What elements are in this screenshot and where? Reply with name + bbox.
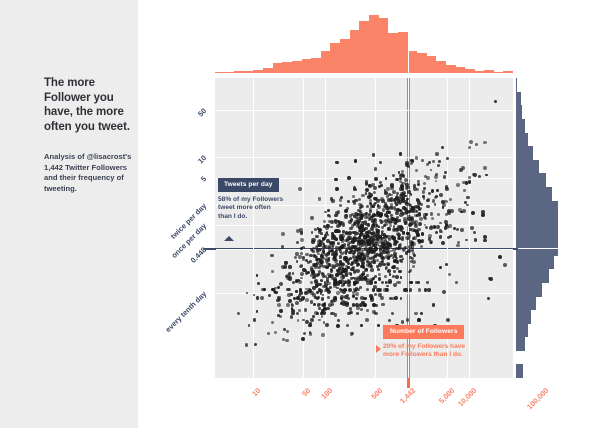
scatter-point bbox=[335, 187, 339, 191]
scatter-point bbox=[374, 281, 377, 284]
scatter-point bbox=[360, 308, 363, 311]
scatter-point bbox=[439, 222, 442, 225]
scatter-point bbox=[377, 268, 380, 271]
histogram-bar bbox=[516, 228, 558, 242]
scatter-point bbox=[310, 216, 314, 220]
histogram-bar bbox=[225, 72, 235, 73]
scatter-point bbox=[392, 190, 396, 194]
scatter-point bbox=[455, 281, 458, 284]
scatter-point bbox=[355, 281, 359, 285]
scatter-point bbox=[338, 225, 341, 228]
scatter-point bbox=[373, 191, 376, 194]
scatter-point bbox=[390, 214, 393, 217]
scatter-point bbox=[423, 182, 426, 185]
scatter-point bbox=[435, 231, 438, 234]
scatter-point bbox=[411, 249, 414, 252]
scatter-point bbox=[366, 309, 370, 313]
scatter-point bbox=[277, 303, 281, 307]
scatter-point bbox=[391, 266, 395, 270]
scatter-point bbox=[310, 281, 313, 284]
scatter-point bbox=[302, 258, 305, 261]
scatter-point bbox=[295, 301, 299, 305]
scatter-point bbox=[334, 214, 338, 218]
scatter-point bbox=[288, 265, 291, 268]
scatter-point bbox=[328, 275, 331, 278]
scatter-point bbox=[353, 236, 356, 239]
scatter-point bbox=[364, 268, 367, 271]
scatter-point bbox=[248, 324, 251, 327]
scatter-point bbox=[292, 281, 295, 284]
scatter-point bbox=[305, 253, 308, 256]
scatter-point bbox=[405, 236, 409, 240]
scatter-point bbox=[318, 307, 321, 310]
scatter-point bbox=[444, 226, 447, 229]
scatter-point bbox=[456, 183, 460, 187]
scatter-point bbox=[279, 282, 283, 286]
histogram-bar bbox=[516, 364, 523, 378]
scatter-point bbox=[310, 318, 314, 322]
scatter-point bbox=[355, 216, 358, 219]
scatter-point bbox=[256, 274, 259, 277]
histogram-bar bbox=[516, 105, 522, 119]
scatter-point bbox=[409, 269, 412, 272]
scatter-point bbox=[359, 275, 363, 279]
scatter-point bbox=[483, 239, 487, 243]
scatter-point bbox=[369, 280, 373, 284]
scatter-point bbox=[327, 296, 330, 299]
scatter-point bbox=[313, 275, 316, 278]
scatter-point bbox=[339, 260, 342, 263]
scatter-point bbox=[468, 176, 472, 180]
scatter-point bbox=[417, 281, 421, 285]
scatter-point bbox=[481, 213, 485, 217]
scatter-point bbox=[344, 270, 347, 273]
gridline-vertical bbox=[253, 78, 254, 378]
scatter-point bbox=[311, 231, 314, 234]
scatter-point bbox=[418, 208, 421, 211]
scatter-point bbox=[327, 209, 330, 212]
scatter-point bbox=[405, 161, 408, 164]
scatter-point bbox=[370, 268, 374, 272]
scatter-point bbox=[301, 296, 305, 300]
scatter-point bbox=[298, 187, 302, 191]
scatter-point bbox=[352, 303, 356, 307]
scatter-point bbox=[365, 231, 368, 234]
scatter-point bbox=[347, 176, 351, 180]
scatter-point bbox=[474, 238, 478, 242]
histogram-bar bbox=[503, 71, 513, 73]
scatter-point bbox=[436, 225, 440, 229]
scatter-point bbox=[393, 252, 397, 256]
scatter-point bbox=[296, 312, 299, 315]
scatter-point bbox=[374, 312, 378, 316]
scatter-point bbox=[442, 290, 446, 294]
scatter-point bbox=[435, 180, 438, 183]
scatter-point bbox=[348, 231, 352, 235]
histogram-bar bbox=[234, 71, 244, 73]
scatter-point bbox=[435, 173, 438, 176]
scatter-point bbox=[379, 288, 383, 292]
scatter-point bbox=[309, 332, 313, 336]
scatter-point bbox=[424, 288, 428, 292]
scatter-point bbox=[324, 245, 328, 249]
histogram-bar bbox=[516, 283, 542, 297]
scatter-point bbox=[441, 241, 445, 245]
scatter-point bbox=[373, 186, 377, 190]
reference-line-tweets-extension-right bbox=[513, 248, 518, 250]
scatter-point bbox=[473, 231, 476, 234]
scatter-point bbox=[381, 303, 385, 307]
histogram-bar bbox=[436, 61, 446, 73]
histogram-bar bbox=[253, 70, 263, 73]
histogram-bar bbox=[516, 187, 552, 201]
histogram-bar bbox=[516, 201, 558, 215]
histogram-bar bbox=[350, 30, 360, 73]
scatter-point bbox=[417, 213, 421, 217]
scatter-point bbox=[395, 257, 398, 260]
scatter-point bbox=[382, 245, 386, 249]
histogram-bar bbox=[484, 70, 494, 73]
scatter-point bbox=[374, 275, 377, 278]
scatter-point bbox=[305, 298, 309, 302]
scatter-point bbox=[318, 319, 321, 322]
scatter-point bbox=[405, 202, 409, 206]
histogram-bar bbox=[516, 296, 536, 310]
scatter-point bbox=[386, 285, 389, 288]
scatter-point bbox=[334, 220, 338, 224]
scatter-point bbox=[470, 226, 474, 230]
scatter-point bbox=[321, 304, 324, 307]
scatter-point bbox=[447, 236, 450, 239]
histogram-bar bbox=[359, 21, 369, 73]
scatter-point bbox=[487, 297, 491, 301]
scatter-point bbox=[304, 269, 307, 272]
scatter-point bbox=[369, 195, 372, 198]
histogram-bar bbox=[369, 15, 379, 73]
scatter-point bbox=[321, 333, 324, 336]
scatter-point bbox=[312, 263, 315, 266]
x-axis-tick-label: 10 bbox=[214, 386, 263, 435]
annotation-tweets-body: 58% of my Followers tweet more often tha… bbox=[218, 196, 284, 222]
scatter-point bbox=[375, 228, 378, 231]
histogram-bar bbox=[516, 255, 554, 269]
scatter-point bbox=[355, 297, 359, 301]
scatter-point bbox=[387, 235, 391, 239]
scatter-point bbox=[308, 288, 312, 292]
scatter-point bbox=[421, 159, 424, 162]
scatter-point bbox=[346, 324, 350, 328]
scatter-point bbox=[291, 304, 294, 307]
scatter-point bbox=[321, 315, 324, 318]
scatter-point bbox=[288, 288, 291, 291]
scatter-point bbox=[368, 243, 371, 246]
scatter-point bbox=[328, 257, 331, 260]
scatter-point bbox=[348, 288, 352, 292]
scatter-point bbox=[341, 245, 344, 248]
scatter-point bbox=[387, 219, 390, 222]
scatter-point bbox=[381, 281, 384, 284]
scatter-point bbox=[294, 256, 297, 259]
scatter-point bbox=[483, 166, 487, 170]
scatter-point bbox=[386, 187, 390, 191]
scatter-point bbox=[425, 226, 428, 229]
scatter-point bbox=[435, 195, 438, 198]
scatter-point bbox=[304, 291, 308, 295]
scatter-point bbox=[377, 225, 380, 228]
figure-area: Tweets per day 58% of my Followers tweet… bbox=[138, 0, 600, 428]
scatter-point bbox=[271, 270, 274, 273]
scatter-point bbox=[439, 235, 443, 239]
histogram-bar bbox=[263, 68, 273, 73]
scatter-point bbox=[456, 228, 459, 231]
scatter-point bbox=[422, 190, 426, 194]
annotation-followers-body: 20% of my Followers have more Followers … bbox=[383, 343, 478, 361]
scatter-point bbox=[465, 239, 468, 242]
histogram-marker-tweets bbox=[516, 248, 560, 250]
scatter-point bbox=[468, 146, 471, 149]
scatter-point bbox=[436, 189, 439, 192]
scatter-point bbox=[379, 252, 383, 256]
scatter-point bbox=[463, 189, 466, 192]
scatter-point bbox=[372, 153, 376, 157]
scatter-point bbox=[462, 209, 466, 213]
scatter-point bbox=[410, 281, 413, 284]
scatter-point bbox=[358, 198, 361, 201]
scatter-point bbox=[351, 224, 355, 228]
scatter-point bbox=[353, 186, 357, 190]
scatter-point bbox=[377, 204, 380, 207]
scatter-point bbox=[359, 303, 363, 307]
scatter-point bbox=[419, 217, 423, 221]
histogram-bar bbox=[516, 269, 549, 283]
scatter-point bbox=[365, 318, 369, 322]
scatter-point bbox=[420, 312, 423, 315]
scatter-point bbox=[345, 303, 349, 307]
scatter-point bbox=[354, 159, 357, 162]
scatter-point bbox=[376, 236, 380, 240]
histogram-bar bbox=[311, 58, 321, 73]
annotation-followers-pointer-icon bbox=[376, 345, 381, 353]
scatter-point bbox=[396, 178, 399, 181]
scatter-point bbox=[410, 242, 414, 246]
histogram-bar bbox=[516, 323, 528, 337]
scatter-point bbox=[380, 184, 383, 187]
scatter-point bbox=[349, 307, 353, 311]
scatter-point bbox=[340, 275, 343, 278]
scatter-point bbox=[347, 200, 350, 203]
scatter-point bbox=[432, 199, 436, 203]
scatter-point bbox=[369, 216, 373, 220]
scatter-point bbox=[418, 288, 421, 291]
scatter-point bbox=[334, 178, 338, 182]
scatter-point bbox=[333, 257, 336, 260]
scatter-point bbox=[296, 241, 299, 244]
page-title: The more Follower you have, the more oft… bbox=[44, 76, 132, 134]
scatter-point bbox=[498, 255, 502, 259]
annotation-number-of-followers: Number of Followers 20% of my Followers … bbox=[383, 320, 478, 360]
histogram-bar bbox=[516, 133, 528, 147]
scatter-point bbox=[449, 198, 452, 201]
scatter-point bbox=[271, 321, 274, 324]
scatter-point bbox=[327, 214, 330, 217]
scatter-point bbox=[316, 312, 319, 315]
scatter-point bbox=[388, 211, 391, 214]
scatter-point bbox=[290, 315, 294, 319]
scatter-point bbox=[350, 332, 354, 336]
scatter-point bbox=[322, 275, 326, 279]
annotation-followers-title: Number of Followers bbox=[383, 325, 464, 339]
scatter-point bbox=[309, 260, 312, 263]
scatter-point bbox=[379, 212, 382, 215]
scatter-point bbox=[503, 263, 507, 267]
scatter-point bbox=[317, 266, 321, 270]
histogram-bar bbox=[475, 71, 485, 73]
scatter-point bbox=[365, 188, 369, 192]
scatter-point bbox=[412, 265, 415, 268]
scatter-point bbox=[432, 303, 435, 306]
scatter-point bbox=[412, 237, 415, 240]
scatter-point bbox=[374, 177, 378, 181]
histogram-bar bbox=[417, 53, 427, 73]
scatter-point bbox=[391, 297, 395, 301]
scatter-point bbox=[483, 235, 487, 239]
scatter-point bbox=[313, 303, 316, 306]
scatter-point bbox=[398, 219, 401, 222]
scatter-point bbox=[386, 195, 389, 198]
histogram-bar bbox=[398, 32, 408, 73]
gridline-horizontal bbox=[215, 110, 513, 111]
scatter-point bbox=[372, 303, 376, 307]
scatter-point bbox=[465, 181, 468, 184]
scatter-point bbox=[378, 273, 381, 276]
scatter-point bbox=[330, 226, 333, 229]
scatter-point bbox=[350, 273, 353, 276]
histogram-bar bbox=[516, 173, 546, 187]
histogram-bar bbox=[321, 51, 331, 73]
scatter-point bbox=[300, 231, 304, 235]
scatter-point bbox=[281, 245, 285, 249]
scatter-point bbox=[323, 225, 326, 228]
scatter-point bbox=[312, 238, 316, 242]
histogram-bar bbox=[516, 337, 525, 351]
scatter-point bbox=[318, 197, 322, 201]
scatter-point bbox=[356, 264, 359, 267]
scatter-point bbox=[366, 205, 369, 208]
scatter-point bbox=[439, 266, 442, 269]
scatter-point bbox=[421, 232, 425, 236]
scatter-point bbox=[296, 260, 299, 263]
scatter-point bbox=[353, 250, 357, 254]
scatter-point bbox=[332, 243, 335, 246]
scatter-point bbox=[435, 152, 439, 156]
scatter-point bbox=[363, 297, 367, 301]
scatter-point bbox=[328, 263, 332, 267]
scatter-point bbox=[410, 162, 413, 165]
scatter-point bbox=[427, 288, 430, 291]
scatter-point bbox=[393, 270, 396, 273]
scatter-point bbox=[393, 259, 397, 263]
scatter-point bbox=[383, 235, 387, 239]
scatter-point bbox=[256, 310, 259, 313]
scatter-point bbox=[279, 309, 283, 313]
scatter-point bbox=[401, 238, 404, 241]
histogram-bar bbox=[516, 78, 517, 92]
right-marginal-histogram bbox=[516, 78, 560, 378]
scatter-point bbox=[431, 189, 435, 193]
scatter-point bbox=[385, 207, 389, 211]
histogram-bar bbox=[244, 71, 254, 73]
scatter-point bbox=[485, 174, 488, 177]
scatter-point bbox=[279, 315, 282, 318]
scatter-point bbox=[339, 198, 343, 202]
scatter-point bbox=[392, 275, 395, 278]
scatter-point bbox=[320, 279, 323, 282]
scatter-point bbox=[370, 204, 374, 208]
scatter-point bbox=[326, 280, 330, 284]
scatter-point bbox=[308, 324, 311, 327]
scatter-point bbox=[366, 288, 369, 291]
scatter-point bbox=[405, 251, 408, 254]
scatter-point bbox=[418, 222, 422, 226]
scatter-point bbox=[380, 296, 384, 300]
scatter-point bbox=[448, 273, 451, 276]
scatter-point bbox=[468, 180, 472, 184]
scatter-point bbox=[391, 312, 394, 315]
scatter-point bbox=[350, 263, 353, 266]
scatter-point bbox=[281, 232, 285, 236]
histogram-bar bbox=[292, 61, 302, 73]
annotation-tweets-per-day: Tweets per day 58% of my Followers tweet… bbox=[218, 173, 284, 221]
scatter-point bbox=[378, 263, 382, 267]
scatter-point bbox=[457, 241, 460, 244]
scatter-point bbox=[471, 211, 475, 215]
scatter-point bbox=[385, 177, 388, 180]
scatter-point bbox=[466, 196, 469, 199]
scatter-point bbox=[260, 296, 264, 300]
scatter-point bbox=[285, 339, 289, 343]
y-axis-tick-label: 50 bbox=[154, 106, 208, 160]
scatter-point bbox=[424, 217, 427, 220]
scatter-point bbox=[483, 141, 486, 144]
scatter-point bbox=[345, 209, 348, 212]
scatter-point bbox=[430, 169, 433, 172]
scatter-point bbox=[257, 282, 260, 285]
histogram-bar bbox=[330, 43, 340, 73]
scatter-point bbox=[437, 164, 440, 167]
scatter-point bbox=[322, 249, 326, 253]
scatter-point bbox=[316, 297, 319, 300]
scatter-point bbox=[414, 312, 417, 315]
scatter-point bbox=[426, 199, 429, 202]
scatter-point bbox=[321, 297, 324, 300]
scatter-point bbox=[345, 259, 349, 263]
histogram-bar bbox=[516, 92, 521, 106]
scatter-point bbox=[379, 161, 382, 164]
scatter-point bbox=[494, 100, 497, 103]
scatter-point bbox=[352, 200, 355, 203]
scatter-point bbox=[310, 274, 313, 277]
scatter-point bbox=[352, 240, 355, 243]
scatter-point bbox=[390, 203, 394, 207]
scatter-point bbox=[401, 182, 404, 185]
scatter-point bbox=[312, 286, 316, 290]
scatter-point bbox=[335, 161, 339, 165]
scatter-point bbox=[481, 210, 485, 214]
scatter-point bbox=[385, 266, 388, 269]
histogram-bar bbox=[388, 33, 398, 73]
scatter-point bbox=[254, 343, 257, 346]
scatter-point bbox=[426, 205, 429, 208]
